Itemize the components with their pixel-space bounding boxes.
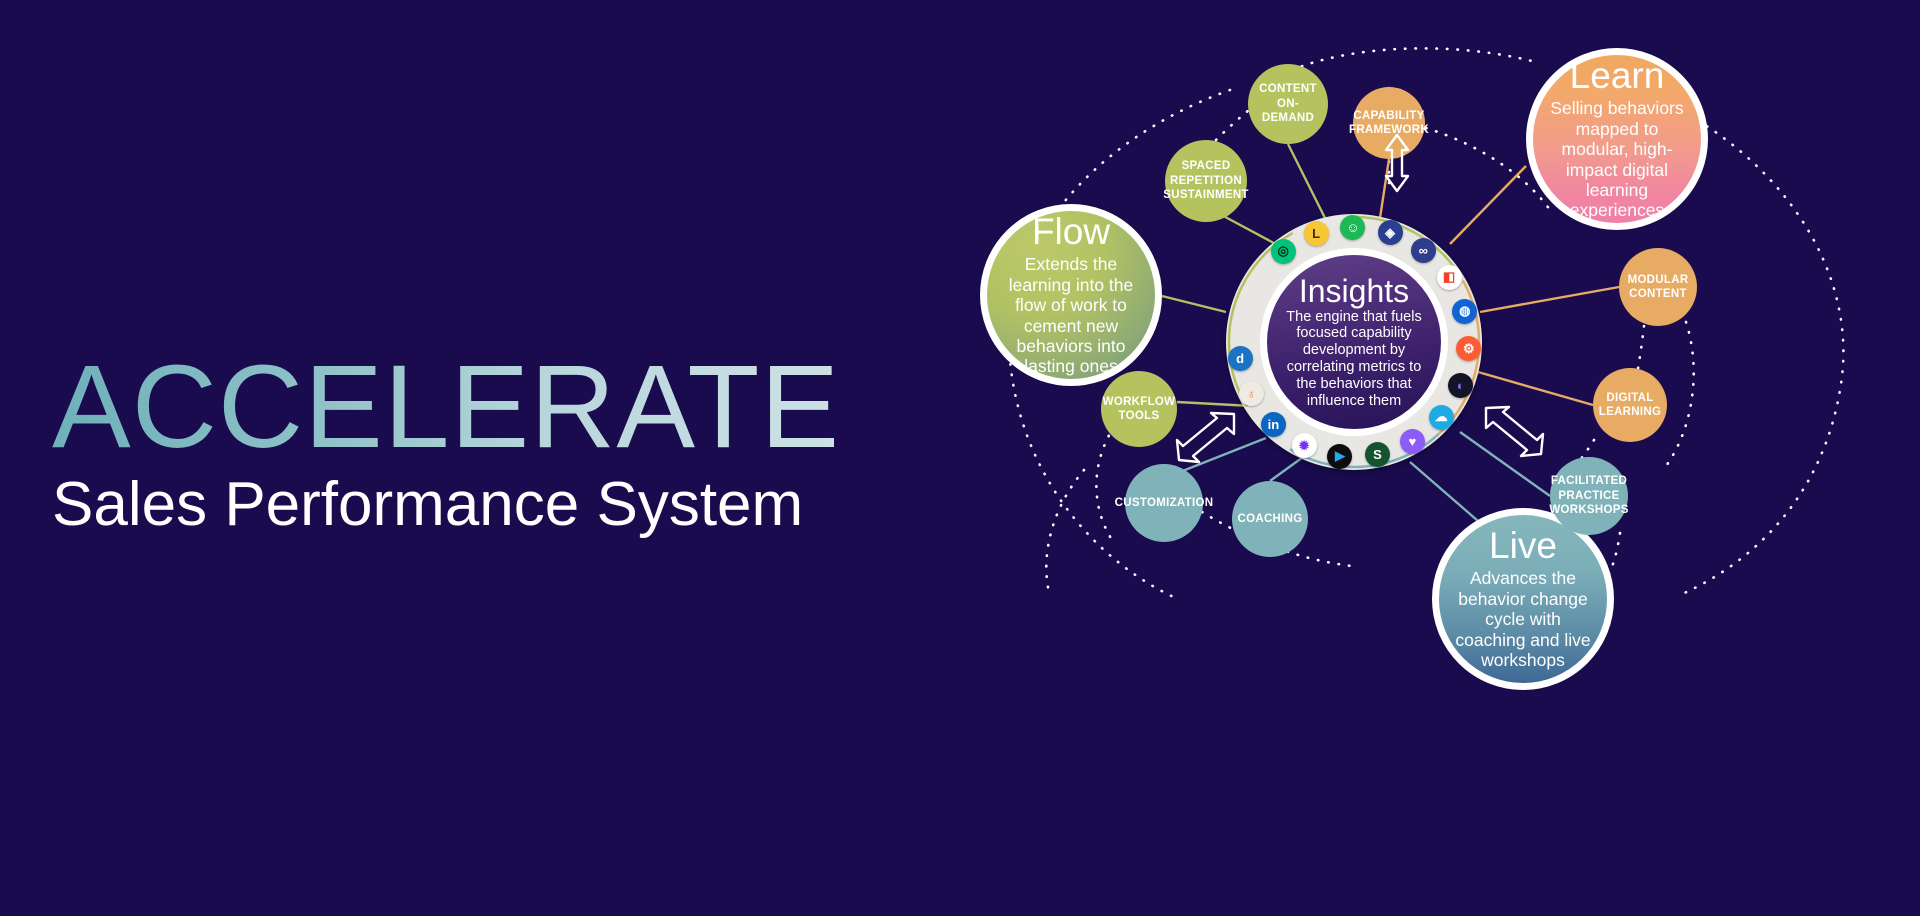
title-block: ACCELERATE Sales Performance System bbox=[52, 348, 872, 537]
satellite-workflow-tools[interactable]: WORKFLOW TOOLS bbox=[1101, 371, 1177, 447]
accelerate-system-diagram: Insights The engine that fuels focused c… bbox=[980, 0, 1920, 916]
pillar-flow-title: Flow bbox=[1032, 213, 1110, 250]
pillar-live[interactable]: Live Advances the behavior change cycle … bbox=[1432, 508, 1614, 690]
gong-icon[interactable]: ◍ bbox=[1452, 299, 1477, 324]
skype-icon[interactable]: ▶ bbox=[1327, 444, 1352, 469]
insights-hub[interactable]: Insights The engine that fuels focused c… bbox=[1226, 214, 1482, 470]
satellite-coaching[interactable]: COACHING bbox=[1232, 481, 1308, 557]
salesforce-icon[interactable]: ☁ bbox=[1429, 405, 1454, 430]
gitlab-icon[interactable]: ✹ bbox=[1292, 433, 1317, 458]
pillar-learn-body: Selling behaviors mapped to modular, hig… bbox=[1533, 98, 1701, 221]
allego-icon[interactable]: ♥ bbox=[1400, 429, 1425, 454]
satellite-content-on-demand[interactable]: CONTENT ON-DEMAND bbox=[1248, 64, 1328, 144]
smiley-icon[interactable]: ☺ bbox=[1340, 215, 1365, 240]
pillar-learn[interactable]: Learn Selling behaviors mapped to modula… bbox=[1526, 48, 1708, 230]
arrow-diagonal-left-icon bbox=[1172, 408, 1242, 464]
brandwatch-icon[interactable]: ◎ bbox=[1271, 239, 1296, 264]
satellite-spaced-repetition[interactable]: SPACED REPETITION SUSTAINMENT bbox=[1165, 140, 1247, 222]
seismic-icon[interactable]: ◧ bbox=[1437, 265, 1462, 290]
pillar-live-body: Advances the behavior change cycle with … bbox=[1439, 568, 1607, 670]
hub-body: The engine that fuels focused capability… bbox=[1267, 309, 1441, 410]
contact-icon[interactable]: ♁ bbox=[1239, 381, 1264, 406]
mindtickle-icon[interactable]: ∞ bbox=[1411, 238, 1436, 263]
slide-canvas: ACCELERATE Sales Performance System bbox=[0, 0, 1920, 916]
satellite-digital-learning[interactable]: DIGITAL LEARNING bbox=[1593, 368, 1667, 442]
pillar-flow[interactable]: Flow Extends the learning into the flow … bbox=[980, 204, 1162, 386]
linkedin-icon[interactable]: in bbox=[1261, 412, 1286, 437]
satellite-customization[interactable]: CUSTOMIZATION bbox=[1125, 464, 1203, 542]
hub-title: Insights bbox=[1299, 275, 1409, 307]
arrow-diagonal-right-icon bbox=[1478, 402, 1548, 458]
pillar-flow-body: Extends the learning into the flow of wo… bbox=[987, 254, 1155, 377]
satellite-facilitated-practice[interactable]: FACILITATED PRACTICE WORKSHOPS bbox=[1550, 457, 1628, 535]
arrow-up-down-icon bbox=[1377, 132, 1417, 194]
showpad-icon[interactable]: ◈ bbox=[1378, 220, 1403, 245]
hub-core: Insights The engine that fuels focused c… bbox=[1267, 255, 1441, 429]
docebo-icon[interactable]: d bbox=[1228, 346, 1253, 371]
page-subtitle: Sales Performance System bbox=[52, 472, 872, 537]
highspot-icon[interactable]: ◐ bbox=[1448, 373, 1473, 398]
page-title: ACCELERATE bbox=[52, 348, 872, 466]
litmos-icon[interactable]: L bbox=[1304, 221, 1329, 246]
sap-icon[interactable]: S bbox=[1365, 442, 1390, 467]
pillar-learn-title: Learn bbox=[1570, 57, 1665, 94]
satellite-modular-content[interactable]: MODULAR CONTENT bbox=[1619, 248, 1697, 326]
pillar-live-title: Live bbox=[1489, 527, 1557, 564]
